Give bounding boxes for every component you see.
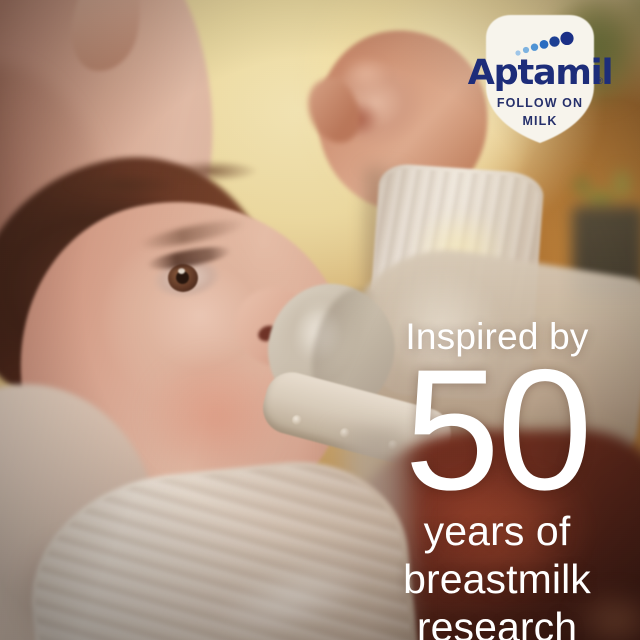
- copy-line-years-of: years of: [362, 509, 632, 553]
- aptamil-logo[interactable]: Aptamil ® FOLLOW ON MILK: [466, 12, 614, 146]
- logo-wordmark: Aptamil: [468, 53, 613, 93]
- logo-subline-milk: MILK: [523, 114, 558, 128]
- collar-rivet: [292, 415, 302, 425]
- baby-eye-highlight: [178, 268, 185, 274]
- aptamil-advert: Aptamil ® FOLLOW ON MILK Inspired by 50 …: [0, 0, 640, 640]
- logo-registered-mark: ®: [597, 76, 604, 86]
- campaign-copy: Inspired by 50 years of breastmilk resea…: [362, 318, 632, 640]
- copy-line-breastmilk: breastmilk: [362, 557, 632, 601]
- copy-headline-50: 50: [362, 357, 632, 505]
- copy-line-research: research: [362, 605, 632, 640]
- logo-subline-follow-on: FOLLOW ON: [497, 96, 583, 110]
